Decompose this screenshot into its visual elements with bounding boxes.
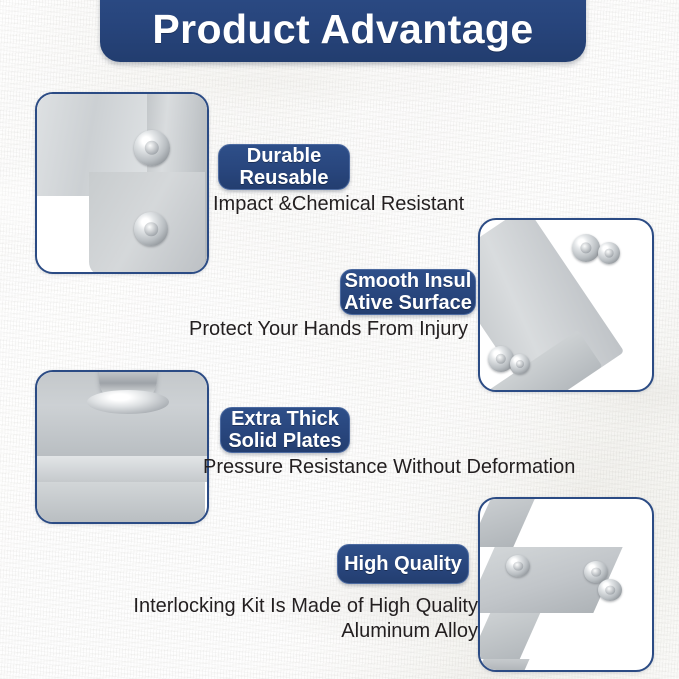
- product-advantage-infographic: Product Advantage Durable Reusable Impac…: [0, 0, 679, 679]
- badge-line-1: High Quality: [344, 553, 462, 575]
- badge-line-2: Ative Surface: [344, 292, 472, 314]
- header-banner: Product Advantage: [100, 0, 586, 62]
- badge-line-1: Smooth Insul: [345, 270, 472, 292]
- badge-smooth-insulative-surface: Smooth Insul Ative Surface: [340, 269, 476, 315]
- screw-icon: [506, 555, 530, 577]
- plate-edge-thickness: [37, 456, 207, 482]
- caption-durable-reusable: Impact &Chemical Resistant: [213, 192, 464, 217]
- caption-high-quality: Interlocking Kit Is Made of High Quality…: [122, 594, 478, 644]
- photo-content: [480, 499, 652, 670]
- feature-photo-high-quality: [478, 497, 654, 672]
- plate-left-wing: [480, 499, 535, 547]
- screw-icon: [598, 242, 620, 264]
- page-title: Product Advantage: [152, 9, 533, 62]
- badge-line-1: Extra Thick: [231, 408, 339, 430]
- caption-smooth-insulative-surface: Protect Your Hands From Injury: [189, 317, 468, 342]
- photo-content: [480, 220, 652, 390]
- badge-extra-thick-solid-plates: Extra Thick Solid Plates: [220, 407, 350, 453]
- caption-line-2: Aluminum Alloy: [122, 619, 478, 644]
- feature-photo-extra-thick-solid-plates: [35, 370, 209, 524]
- badge-durable-reusable: Durable Reusable: [218, 144, 350, 190]
- badge-line-1: Durable: [247, 145, 321, 167]
- screw-icon: [598, 579, 622, 601]
- badge-line-2: Reusable: [240, 167, 329, 189]
- badge-high-quality: High Quality: [337, 544, 469, 584]
- feature-photo-durable-reusable: [35, 92, 209, 274]
- photo-content: [37, 372, 207, 522]
- plate-lower-layer: [37, 482, 205, 522]
- photo-content: [37, 94, 207, 272]
- caption-line-1: Interlocking Kit Is Made of High Quality: [122, 594, 478, 619]
- caption-extra-thick-solid-plates: Pressure Resistance Without Deformation: [203, 455, 575, 480]
- plate-lip: [480, 659, 530, 670]
- knob-base-ring: [87, 390, 169, 414]
- screw-icon: [572, 234, 600, 262]
- feature-photo-smooth-insulative-surface: [478, 218, 654, 392]
- badge-line-2: Solid Plates: [228, 430, 341, 452]
- screw-icon: [510, 354, 530, 374]
- plate-right-wing: [480, 613, 540, 659]
- screw-icon: [134, 130, 170, 166]
- screw-icon: [134, 212, 168, 246]
